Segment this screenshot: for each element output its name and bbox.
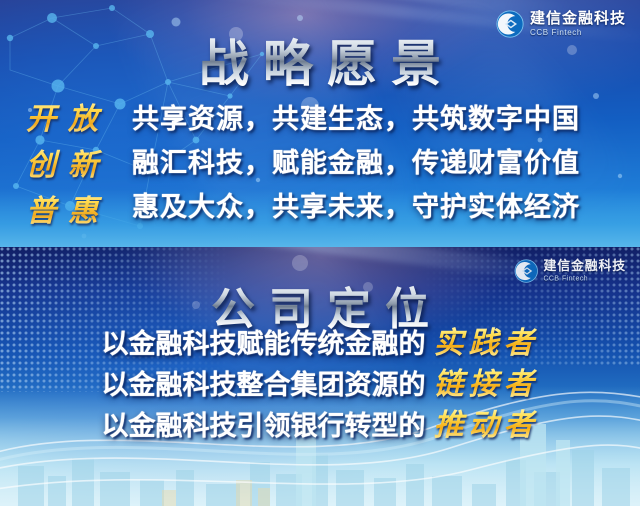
panel-company-positioning: 建信金融科技 CCB Fintech 公司定位 以金融科技赋能传统金融的 实践者… bbox=[0, 247, 640, 506]
positioning-text: 以金融科技整合集团资源的 bbox=[102, 365, 426, 406]
vision-keyword: 开放 bbox=[26, 98, 110, 142]
panel-strategic-vision: 建信金融科技 CCB Fintech 战略愿景 开放 创新 普惠 共享资源，共建… bbox=[0, 0, 640, 247]
panel-title-strategic-vision: 战略愿景 bbox=[0, 24, 640, 96]
vision-statement-line: 共享资源，共建生态，共筑数字中国 bbox=[132, 98, 580, 142]
positioning-text: 以金融科技引领银行转型的 bbox=[102, 406, 426, 447]
positioning-role: 推动者 bbox=[434, 405, 539, 446]
vision-statement-line: 惠及大众，共享未来，守护实体经济 bbox=[132, 186, 580, 230]
positioning-role: 链接者 bbox=[434, 364, 539, 405]
positioning-role: 实践者 bbox=[434, 323, 539, 364]
positioning-statement-line: 以金融科技引领银行转型的 推动者 bbox=[102, 405, 539, 446]
poster-image: 建信金融科技 CCB Fintech 战略愿景 开放 创新 普惠 共享资源，共建… bbox=[0, 0, 640, 506]
vision-keyword: 普惠 bbox=[26, 190, 110, 234]
positioning-statement-line: 以金融科技整合集团资源的 链接者 bbox=[102, 364, 539, 405]
positioning-statement-line: 以金融科技赋能传统金融的 实践者 bbox=[102, 323, 539, 364]
vision-statement-list: 共享资源，共建生态，共筑数字中国 融汇科技，赋能金融，传递财富价值 惠及大众，共… bbox=[132, 98, 580, 230]
brand-name-cn: 建信金融科技 bbox=[543, 260, 626, 273]
positioning-text: 以金融科技赋能传统金融的 bbox=[102, 324, 426, 365]
positioning-statement-list: 以金融科技赋能传统金融的 实践者 以金融科技整合集团资源的 链接者 以金融科技引… bbox=[0, 323, 640, 446]
vision-keyword: 创新 bbox=[26, 144, 110, 188]
vision-keyword-list: 开放 创新 普惠 bbox=[26, 98, 110, 234]
vision-statement-line: 融汇科技，赋能金融，传递财富价值 bbox=[132, 142, 580, 186]
